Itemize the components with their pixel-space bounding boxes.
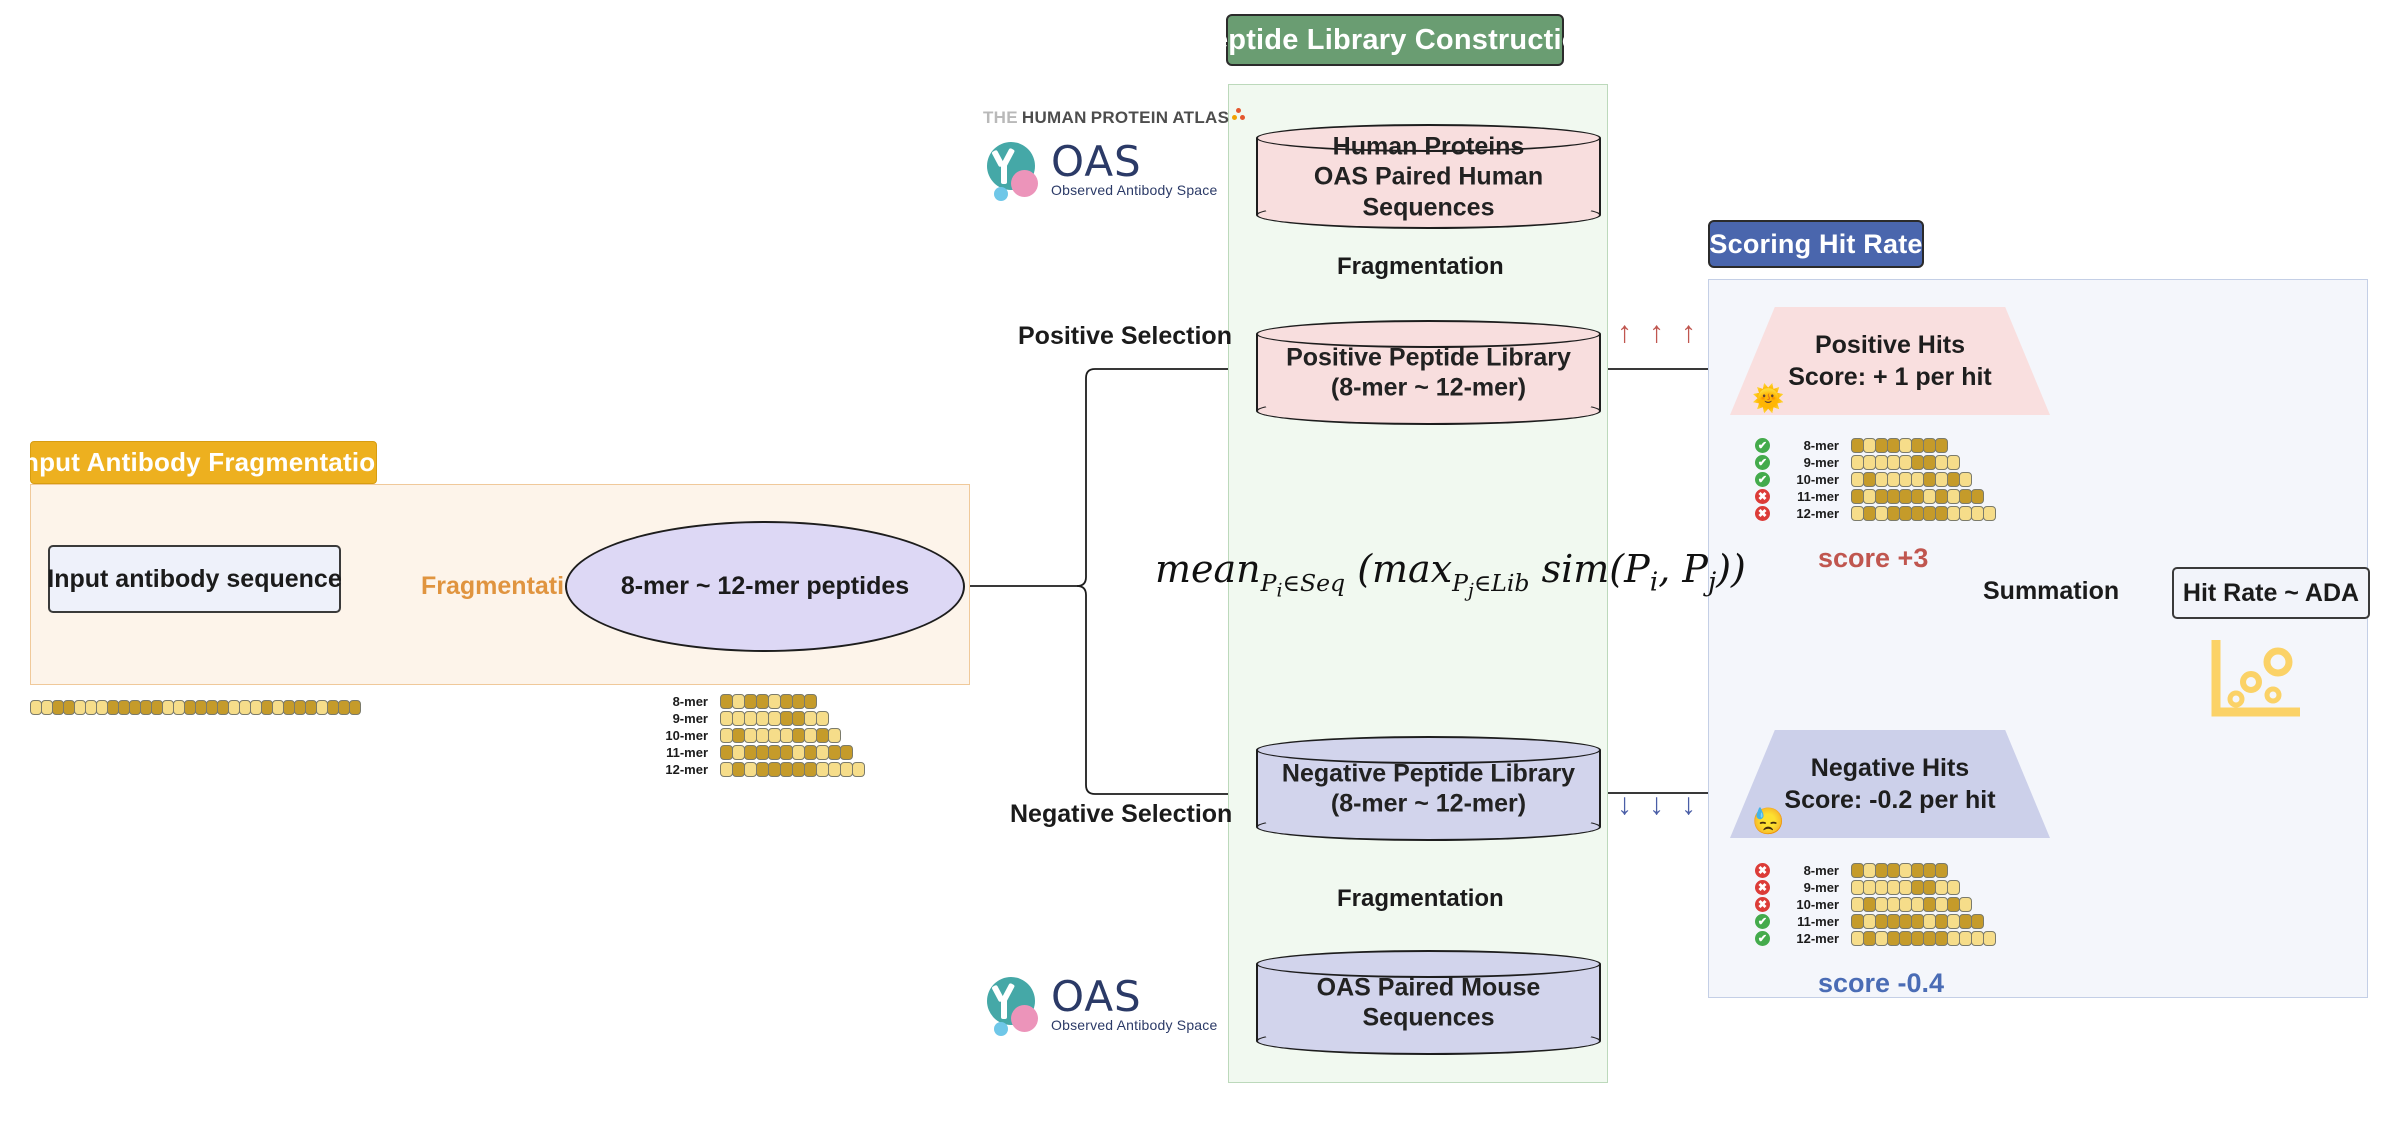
peptide-bead-row (720, 694, 816, 709)
hit-check-icon: ✔ (1755, 931, 1770, 946)
cold-sweat-emoji: 😓 (1752, 808, 1784, 834)
mer-label: 11-mer (652, 745, 708, 760)
mer-row: ✔11-mer (1755, 913, 1995, 930)
oas-title: OAS (1051, 137, 1142, 186)
peptide-bead (1983, 931, 1996, 946)
mer-row: 11-mer (652, 744, 864, 761)
peptide-bead-row (720, 762, 864, 777)
mer-row: ✖9-mer (1755, 879, 1995, 896)
mer-row: ✖11-mer (1755, 488, 1995, 505)
peptide-bead (852, 762, 865, 777)
hpa-dots-icon (1232, 108, 1246, 122)
peptide-bead-row (720, 711, 828, 726)
sun-smile-emoji: 🌞 (1752, 385, 1784, 411)
mer-row: ✔8-mer (1755, 437, 1995, 454)
down-arrow-icon-1: ↓ (1617, 790, 1632, 820)
up-arrow-icon-2: ↑ (1649, 318, 1664, 348)
mer-row: ✔9-mer (1755, 454, 1995, 471)
mer-label: 10-mer (1779, 472, 1839, 487)
peptide-bead (1947, 880, 1960, 895)
peptide-bead-row (1851, 914, 1983, 929)
hpa-atlas-text: ATLAS (1172, 108, 1229, 128)
mer-row: 9-mer (652, 710, 864, 727)
human-db-line2: OAS Paired Human Sequences (1314, 162, 1543, 221)
similarity-formula: meanPi∈Seq (maxPj∈Lib sim(Pi, Pj)) (1155, 547, 1746, 601)
peptide-bead-row (1851, 931, 1995, 946)
input-mer-list: 8-mer9-mer10-mer11-mer12-mer (652, 693, 864, 778)
hit-rate-ada-box: Hit Rate ~ ADA (2172, 567, 2370, 619)
peptide-bead (840, 745, 853, 760)
peptide-bead-row (1851, 880, 1959, 895)
down-arrow-icon-2: ↓ (1649, 790, 1664, 820)
peptide-bead-row (1851, 489, 1983, 504)
hit-check-icon: ✔ (1755, 914, 1770, 929)
positive-selection-label: Positive Selection (1018, 322, 1232, 351)
mer-label: 9-mer (1779, 880, 1839, 895)
peptide-bead (1959, 897, 1972, 912)
oas-logo-top: OAS Observed Antibody Space (983, 140, 1217, 202)
peptide-bead (1935, 863, 1948, 878)
hit-cross-icon: ✖ (1755, 880, 1770, 895)
mer-label: 12-mer (1779, 931, 1839, 946)
negative-arrows: ↓ ↓ ↓ (1617, 790, 1696, 820)
hit-check-icon: ✔ (1755, 438, 1770, 453)
oas-title-2: OAS (1051, 972, 1142, 1021)
human-proteins-database: Human Proteins OAS Paired Human Sequence… (1256, 124, 1601, 229)
mouse-sequences-database: OAS Paired Mouse Sequences (1256, 950, 1601, 1055)
hpa-the-text: THE (983, 108, 1018, 128)
peptide-bead-row (720, 728, 840, 743)
fragmentation-label-top: Fragmentation (1337, 253, 1504, 281)
mouse-db-label: OAS Paired Mouse Sequences (1256, 972, 1601, 1033)
poslib-line2: (8-mer ~ 12-mer) (1331, 374, 1526, 402)
mer-label: 8-mer (652, 694, 708, 709)
hit-cross-icon: ✖ (1755, 506, 1770, 521)
peptide-bead (1947, 455, 1960, 470)
mer-row: 10-mer (652, 727, 864, 744)
peptides-ellipse: 8-mer ~ 12-mer peptides (565, 521, 965, 652)
peptide-bead (1983, 506, 1996, 521)
positive-hits-shape: Positive Hits Score: + 1 per hit 🌞 (1730, 307, 2050, 415)
mer-row: ✖8-mer (1755, 862, 1995, 879)
neglib-line1: Negative Peptide Library (1282, 759, 1575, 787)
hit-check-icon: ✔ (1755, 455, 1770, 470)
positive-peptide-library: Positive Peptide Library (8-mer ~ 12-mer… (1256, 320, 1601, 425)
mer-row: ✖12-mer (1755, 505, 1995, 522)
oas-subtitle-2: Observed Antibody Space (1051, 1017, 1217, 1033)
mer-label: 9-mer (1779, 455, 1839, 470)
section-title-scoring-hit-rate: Scoring Hit Rate (1708, 220, 1924, 268)
peptide-bead (1959, 472, 1972, 487)
mer-row: 8-mer (652, 693, 864, 710)
mer-label: 9-mer (652, 711, 708, 726)
oas-antibody-icon (983, 140, 1045, 202)
hit-check-icon: ✔ (1755, 472, 1770, 487)
negative-hits-line2: Score: -0.2 per hit (1784, 784, 1995, 817)
negative-peptide-library: Negative Peptide Library (8-mer ~ 12-mer… (1256, 736, 1601, 841)
hit-cross-icon: ✖ (1755, 489, 1770, 504)
human-db-line1: Human Proteins (1333, 132, 1525, 160)
peptide-bead-row (1851, 438, 1947, 453)
oas-logo-bottom: OAS Observed Antibody Space (983, 975, 1217, 1037)
diagram-canvas: Peptide Library Construction Scoring Hit… (0, 0, 2384, 1124)
oas-subtitle: Observed Antibody Space (1051, 182, 1217, 198)
poslib-line1: Positive Peptide Library (1286, 343, 1571, 371)
mer-row: ✔10-mer (1755, 471, 1995, 488)
peptide-bead-row (1851, 897, 1971, 912)
human-protein-atlas-logo: THE HUMAN PROTEIN ATLAS (983, 108, 1246, 128)
mer-label: 12-mer (652, 762, 708, 777)
hit-cross-icon: ✖ (1755, 897, 1770, 912)
up-arrow-icon-3: ↑ (1681, 318, 1696, 348)
hit-cross-icon: ✖ (1755, 863, 1770, 878)
peptide-bead (1971, 489, 1984, 504)
peptide-bead-row (1851, 455, 1959, 470)
positive-mer-list: ✔8-mer✔9-mer✔10-mer✖11-mer✖12-mer (1755, 437, 1995, 522)
mer-label: 11-mer (1779, 914, 1839, 929)
mer-label: 12-mer (1779, 506, 1839, 521)
peptide-bead (816, 711, 829, 726)
mer-label: 10-mer (1779, 897, 1839, 912)
negative-hits-shape: Negative Hits Score: -0.2 per hit 😓 (1730, 730, 2050, 838)
peptide-bead-row (1851, 506, 1995, 521)
oas-antibody-icon-2 (983, 975, 1045, 1037)
positive-score: score +3 (1818, 543, 1928, 574)
peptide-bead-row (1851, 863, 1947, 878)
negative-selection-label: Negative Selection (1010, 800, 1232, 829)
hpa-human-text: HUMAN (1022, 108, 1087, 128)
mer-label: 11-mer (1779, 489, 1839, 504)
peptide-bead-row (1851, 472, 1971, 487)
mer-label: 8-mer (1779, 863, 1839, 878)
peptide-bead (804, 694, 817, 709)
fragmentation-label-bottom: Fragmentation (1337, 885, 1504, 913)
positive-hits-line1: Positive Hits (1815, 329, 1965, 362)
mer-row: ✖10-mer (1755, 896, 1995, 913)
mer-row: ✔12-mer (1755, 930, 1995, 947)
negative-score: score -0.4 (1818, 968, 1944, 999)
input-antibody-sequence-box: Input antibody sequence (48, 545, 341, 613)
mer-row: 12-mer (652, 761, 864, 778)
peptide-bead (1971, 914, 1984, 929)
mer-label: 8-mer (1779, 438, 1839, 453)
peptide-bead (349, 700, 361, 715)
section-title-peptide-library: Peptide Library Construction (1226, 14, 1564, 66)
negative-mer-list: ✖8-mer✖9-mer✖10-mer✔11-mer✔12-mer (1755, 862, 1995, 947)
peptide-bead-row (720, 745, 852, 760)
down-arrow-icon-3: ↓ (1681, 790, 1696, 820)
mer-label: 10-mer (652, 728, 708, 743)
negative-hits-line1: Negative Hits (1811, 752, 1969, 785)
positive-arrows: ↑ ↑ ↑ (1617, 318, 1696, 348)
up-arrow-icon-1: ↑ (1617, 318, 1632, 348)
section-title-input-fragmentation: Input Antibody Fragmentation (30, 441, 377, 484)
positive-hits-line2: Score: + 1 per hit (1788, 361, 1992, 394)
summation-label: Summation (1983, 577, 2119, 606)
neglib-line2: (8-mer ~ 12-mer) (1331, 790, 1526, 818)
hpa-protein-text: PROTEIN (1091, 108, 1169, 128)
scatter-plot-icon (2210, 640, 2300, 722)
antibody-sequence-bead-strip (30, 700, 360, 715)
peptide-bead (1935, 438, 1948, 453)
peptide-bead (828, 728, 841, 743)
